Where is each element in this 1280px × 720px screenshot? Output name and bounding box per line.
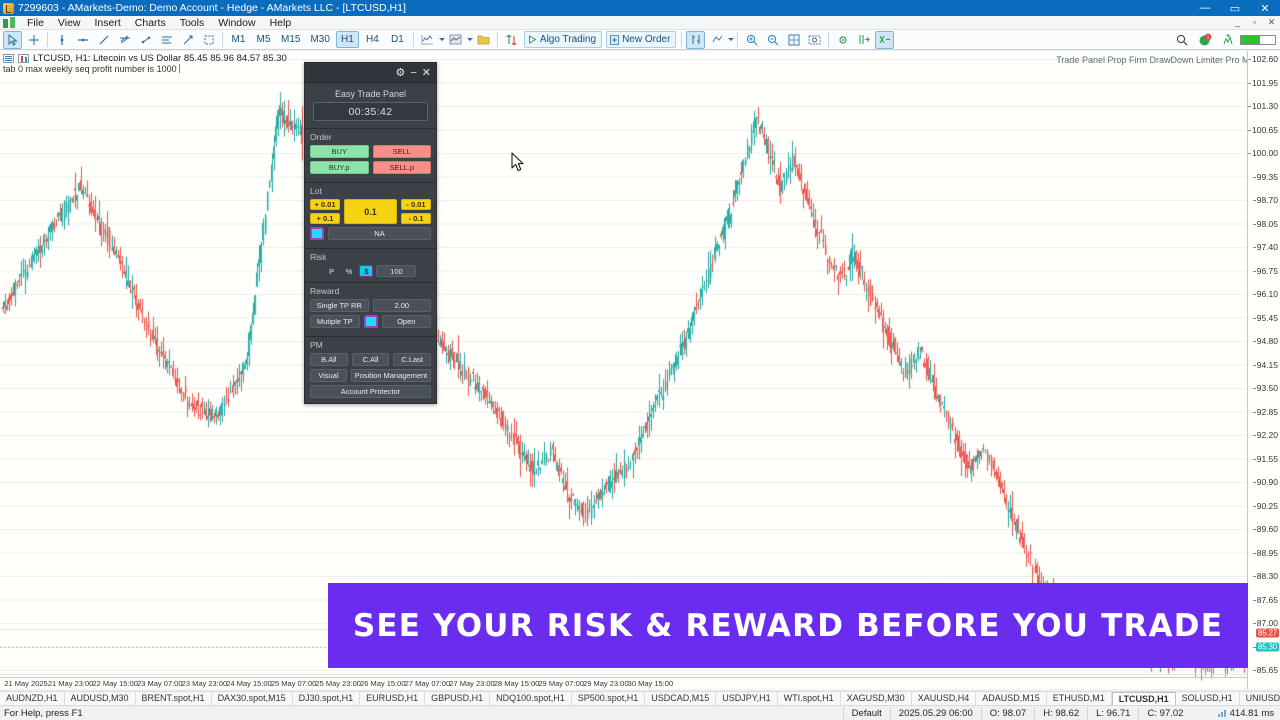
price-tick: 100.65: [1252, 125, 1278, 135]
price-tick: 98.05: [1257, 219, 1278, 229]
settings-icon[interactable]: [833, 31, 852, 49]
mdi-window-controls: _ ▫ ✕: [1229, 17, 1280, 28]
time-tick: 27 May 23:00: [449, 679, 494, 688]
symbol-tab[interactable]: USDCAD,M15: [645, 692, 716, 705]
timeframe-m15[interactable]: M15: [277, 31, 304, 48]
bid-price-tag: 85.30: [1256, 643, 1279, 652]
horizontal-line-icon[interactable]: [73, 31, 92, 49]
reward-section-label: Reward: [310, 286, 431, 296]
price-tick: 90.25: [1257, 501, 1278, 511]
symbol-tab[interactable]: XAGUSD,M30: [841, 692, 912, 705]
lot-plus-small-button[interactable]: + 0.01: [310, 199, 340, 210]
chart-comment-text: tab 0 max weekly seq profit number is 10…: [3, 64, 177, 74]
symbol-tab[interactable]: AUDNZD,H1: [0, 692, 65, 705]
symbol-tab[interactable]: AUDUSD,M30: [65, 692, 136, 705]
price-tick: 95.45: [1257, 313, 1278, 323]
screenshot-icon[interactable]: [805, 31, 824, 49]
symbol-tab[interactable]: SOLUSD,H1: [1176, 692, 1240, 705]
time-tick: 27 May 07:00: [405, 679, 450, 688]
menubar: File View Insert Charts Tools Window Hel…: [0, 16, 1280, 30]
symbol-tab[interactable]: XAUUSD,H4: [912, 692, 977, 705]
symbol-tab[interactable]: WTI.spot,H1: [778, 692, 841, 705]
symbol-tab[interactable]: EURUSD,H1: [360, 692, 425, 705]
time-axis: 21 May 202521 May 23:0022 May 15:0023 Ma…: [0, 677, 1247, 689]
menu-insert[interactable]: Insert: [88, 16, 128, 30]
multiple-tp-button[interactable]: Mutiple TP: [310, 315, 360, 328]
risk-value-field[interactable]: 100: [376, 265, 416, 277]
bar-chart-icon[interactable]: [686, 31, 705, 49]
price-tick: 102.60: [1252, 54, 1278, 64]
buy-pending-button[interactable]: BUY.p: [310, 161, 369, 174]
price-tick: 101.30: [1252, 101, 1278, 111]
order-section-label: Order: [310, 132, 431, 142]
mdi-minimize-icon[interactable]: _: [1229, 17, 1246, 28]
menu-view[interactable]: View: [51, 16, 88, 30]
time-tick: 22 May 15:00: [92, 679, 137, 688]
menu-window[interactable]: Window: [211, 16, 262, 30]
symbol-tab[interactable]: ADAUSD,M15: [976, 692, 1047, 705]
grid-icon[interactable]: [784, 31, 803, 49]
mdi-close-icon[interactable]: ✕: [1263, 17, 1280, 28]
equidistant-channel-icon[interactable]: [115, 31, 134, 49]
close-icon[interactable]: ✕: [422, 68, 431, 78]
notification-icon[interactable]: 1: [1195, 31, 1214, 49]
indicators-icon[interactable]: [446, 31, 465, 49]
lot-mode-field[interactable]: NA: [328, 227, 431, 240]
status-open: O: 98.07: [981, 707, 1034, 720]
mouse-cursor-icon: [511, 152, 527, 174]
shift-icon[interactable]: [854, 31, 873, 49]
text-label-icon[interactable]: [157, 31, 176, 49]
risk-money-button[interactable]: $: [359, 265, 373, 277]
promo-banner-text: SEE YOUR RISK & REWARD BEFORE YOU TRADE: [353, 608, 1223, 644]
price-tick: 88.30: [1257, 571, 1278, 581]
data-window-icon: [3, 54, 14, 63]
candlestick-chart-icon[interactable]: [707, 31, 726, 49]
order-section: Order BUY SELL BUY.p SELL.p: [305, 128, 436, 182]
symbol-tab[interactable]: DJ30.spot,H1: [293, 692, 361, 705]
open-button[interactable]: Open: [382, 315, 432, 328]
svg-text:1: 1: [1206, 34, 1209, 39]
folder-icon[interactable]: [474, 31, 493, 49]
panel-timer: 00:35:42: [313, 102, 428, 121]
status-close: C: 97.02: [1138, 707, 1191, 720]
toolbar-separator: [737, 32, 738, 47]
status-bar: For Help, press F1 Default 2025.05.29 06…: [0, 705, 1280, 720]
symbol-tabbar: AUDNZD,H1AUDUSD,M30BRENT.spot,H1DAX30.sp…: [0, 691, 1280, 705]
lot-plus-big-button[interactable]: + 0.1: [310, 213, 340, 224]
timeframe-h1[interactable]: H1: [336, 31, 359, 48]
main-toolbar: M1 M5 M15 M30 H1 H4 D1 Algo Trading New …: [0, 30, 1280, 50]
signal-bars-icon: [1218, 709, 1226, 717]
chevron-down-icon[interactable]: [467, 38, 473, 41]
chart-watermark: Trade Panel Prop Firm DrawDown Limiter P…: [1056, 55, 1274, 65]
minimize-icon[interactable]: —: [1190, 0, 1220, 16]
time-tick: 21 May 2025: [4, 679, 47, 688]
pm-section-label: PM: [310, 340, 431, 350]
symbol-tab[interactable]: USDJPY,H1: [716, 692, 777, 705]
toolbar-separator: [222, 32, 223, 47]
window-titlebar: 7299603 - AMarkets-Demo: Demo Account - …: [0, 0, 1280, 16]
time-tick: 25 May 23:00: [315, 679, 360, 688]
time-tick: 23 May 23:00: [182, 679, 227, 688]
new-order-button[interactable]: New Order: [606, 31, 676, 48]
trendline-icon[interactable]: [94, 31, 113, 49]
price-tick: 85.65: [1257, 665, 1278, 675]
autoscroll-icon[interactable]: [502, 31, 521, 49]
cursor-icon[interactable]: [3, 31, 22, 49]
price-tick: 94.15: [1257, 360, 1278, 370]
time-tick: 23 May 07:00: [137, 679, 182, 688]
line-chart-icon[interactable]: [418, 31, 437, 49]
price-tick: 96.75: [1257, 266, 1278, 276]
metatrader-window: 7299603 - AMarkets-Demo: Demo Account - …: [0, 0, 1280, 720]
price-tick: 90.90: [1257, 477, 1278, 487]
app-logo-icon: [3, 3, 14, 14]
single-tp-rr-button[interactable]: Single TP RR: [310, 299, 369, 312]
fibonacci-icon[interactable]: [136, 31, 155, 49]
algo-trading-button[interactable]: Algo Trading: [524, 31, 602, 48]
lot-value-field[interactable]: 0.1: [344, 199, 397, 224]
timeframe-d1[interactable]: D1: [386, 31, 409, 48]
status-ping: 414.81 ms: [1218, 708, 1280, 719]
price-tick: 93.50: [1257, 383, 1278, 393]
window-controls: — ▭ ✕: [1190, 0, 1280, 16]
time-tick: 29 May 07:00: [538, 679, 583, 688]
time-tick: 24 May 15:00: [226, 679, 271, 688]
panel-titlebar: ⚙ − ✕: [305, 63, 436, 83]
price-tick: 92.85: [1257, 407, 1278, 417]
chart-header: LTCUSD, H1: Litecoin vs US Dollar 85.45 …: [3, 53, 287, 64]
menu-help[interactable]: Help: [263, 16, 299, 30]
minimize-icon[interactable]: −: [410, 68, 416, 78]
price-tick: 88.95: [1257, 548, 1278, 558]
time-tick: 28 May 15:00: [494, 679, 539, 688]
multiple-tp-toggle[interactable]: [364, 315, 378, 328]
status-help-text: For Help, press F1: [0, 708, 83, 719]
time-tick: 21 May 23:00: [48, 679, 93, 688]
signal-icon[interactable]: [1218, 31, 1237, 49]
connection-status-bar: [1240, 35, 1276, 45]
chevron-down-icon[interactable]: [728, 38, 734, 41]
timeframe-m30[interactable]: M30: [306, 31, 333, 48]
crosshair-icon[interactable]: [24, 31, 43, 49]
vertical-line-icon[interactable]: [52, 31, 71, 49]
new-order-label: New Order: [622, 34, 670, 45]
time-tick: 30 May 15:00: [628, 679, 673, 688]
status-high: H: 98.62: [1034, 707, 1087, 720]
status-ping-value: 414.81 ms: [1230, 708, 1274, 719]
close-all-button[interactable]: C.All: [352, 353, 390, 366]
risk-section: Risk P % $ 100: [305, 248, 436, 282]
price-tick: 100.00: [1252, 148, 1278, 158]
time-tick: 25 May 07:00: [271, 679, 316, 688]
lot-minus-small-button[interactable]: - 0.01: [401, 199, 431, 210]
rr-value-field[interactable]: 2.00: [373, 299, 432, 312]
price-tick: 96.10: [1257, 289, 1278, 299]
timeframe-m5[interactable]: M5: [252, 31, 275, 48]
crosshair-cross-icon[interactable]: [875, 31, 894, 49]
visual-button[interactable]: Visual: [310, 369, 347, 382]
symbol-tab[interactable]: GBPUSD,H1: [425, 692, 490, 705]
symbol-tab[interactable]: BRENT.spot,H1: [136, 692, 212, 705]
window-title: 7299603 - AMarkets-Demo: Demo Account - …: [18, 2, 406, 14]
risk-points-button[interactable]: P: [325, 265, 339, 277]
symbol-tab[interactable]: SP500.spot,H1: [572, 692, 646, 705]
lot-section: Lot + 0.01 + 0.1 0.1 - 0.01 - 0.1 NA: [305, 182, 436, 248]
break-even-all-button[interactable]: B.All: [310, 353, 348, 366]
lot-minus-big-button[interactable]: - 0.1: [401, 213, 431, 224]
arrow-icon[interactable]: [178, 31, 197, 49]
lot-section-label: Lot: [310, 186, 431, 196]
close-icon[interactable]: ✕: [1250, 0, 1280, 16]
toolbar-right-group: 1: [1171, 31, 1280, 49]
risk-section-label: Risk: [310, 252, 431, 262]
price-axis[interactable]: 102.60101.95101.30100.65100.0099.3598.70…: [1247, 51, 1280, 689]
chart-window-icon: [2, 17, 18, 29]
menu-tools[interactable]: Tools: [173, 16, 212, 30]
toolbar-separator: [497, 32, 498, 47]
sell-button[interactable]: SELL: [373, 145, 432, 158]
toolbar-separator: [828, 32, 829, 47]
chart-comment-label: tab 0 max weekly seq profit number is 10…: [3, 64, 180, 74]
status-profile[interactable]: Default: [843, 707, 890, 720]
buy-button[interactable]: BUY: [310, 145, 369, 158]
chart-symbol-label: LTCUSD, H1: Litecoin vs US Dollar 85.45 …: [33, 53, 287, 64]
price-tick: 94.80: [1257, 336, 1278, 346]
time-tick: 29 May 23:00: [583, 679, 628, 688]
toolbar-separator: [413, 32, 414, 47]
price-tick: 89.60: [1257, 524, 1278, 534]
easy-trade-panel[interactable]: ⚙ − ✕ Easy Trade Panel 00:35:42 Order BU…: [304, 62, 437, 404]
price-tick: 87.65: [1257, 595, 1278, 605]
zoom-out-icon[interactable]: [763, 31, 782, 49]
symbol-tab[interactable]: LTCUSD,H1: [1112, 692, 1176, 706]
timeframe-h4[interactable]: H4: [361, 31, 384, 48]
price-tick: 101.95: [1252, 78, 1278, 88]
symbol-tab[interactable]: DAX30.spot,M15: [212, 692, 293, 705]
toolbar-separator: [681, 32, 682, 47]
symbol-tab[interactable]: NDQ100.spot,H1: [490, 692, 572, 705]
algo-trading-label: Algo Trading: [540, 34, 596, 45]
ask-price-tag: 85.27: [1256, 629, 1279, 638]
symbol-tab[interactable]: UNIUSD,H1: [1240, 692, 1280, 705]
close-last-button[interactable]: C.Last: [393, 353, 431, 366]
sell-pending-button[interactable]: SELL.p: [373, 161, 432, 174]
timeframe-m1[interactable]: M1: [227, 31, 250, 48]
search-icon[interactable]: [1172, 31, 1191, 49]
shapes-icon[interactable]: [199, 31, 218, 49]
chart-type-icon: [18, 54, 29, 63]
menu-charts[interactable]: Charts: [128, 16, 173, 30]
price-tick: 87.00: [1257, 618, 1278, 628]
chevron-down-icon[interactable]: [439, 38, 445, 41]
price-tick: 99.35: [1257, 172, 1278, 182]
status-low: L: 96.71: [1087, 707, 1138, 720]
promo-banner: SEE YOUR RISK & REWARD BEFORE YOU TRADE: [328, 583, 1248, 668]
account-protector-button[interactable]: Account Protector: [310, 385, 431, 398]
mdi-restore-icon[interactable]: ▫: [1246, 17, 1263, 28]
lot-auto-toggle[interactable]: [310, 227, 324, 240]
panel-title: Easy Trade Panel: [305, 83, 436, 102]
reward-section: Reward Single TP RR 2.00 Mutiple TP Open: [305, 282, 436, 336]
pm-section: PM B.All C.All C.Last Visual Position Ma…: [305, 336, 436, 403]
price-tick: 97.40: [1257, 242, 1278, 252]
time-tick: 26 May 15:00: [360, 679, 405, 688]
zoom-in-icon[interactable]: [742, 31, 761, 49]
symbol-tab[interactable]: ETHUSD,M1: [1047, 692, 1112, 705]
position-management-button[interactable]: Position Management: [351, 369, 431, 382]
price-tick: 92.20: [1257, 430, 1278, 440]
maximize-icon[interactable]: ▭: [1220, 0, 1250, 16]
status-datetime: 2025.05.29 06:00: [890, 707, 981, 720]
price-tick: 98.70: [1257, 195, 1278, 205]
toolbar-separator: [47, 32, 48, 47]
menu-file[interactable]: File: [20, 16, 51, 30]
gear-icon[interactable]: ⚙: [395, 68, 405, 78]
risk-percent-button[interactable]: %: [342, 265, 357, 277]
price-tick: 91.55: [1257, 454, 1278, 464]
watermark-text: Trade Panel Prop Firm DrawDown Limiter P…: [1056, 55, 1260, 65]
